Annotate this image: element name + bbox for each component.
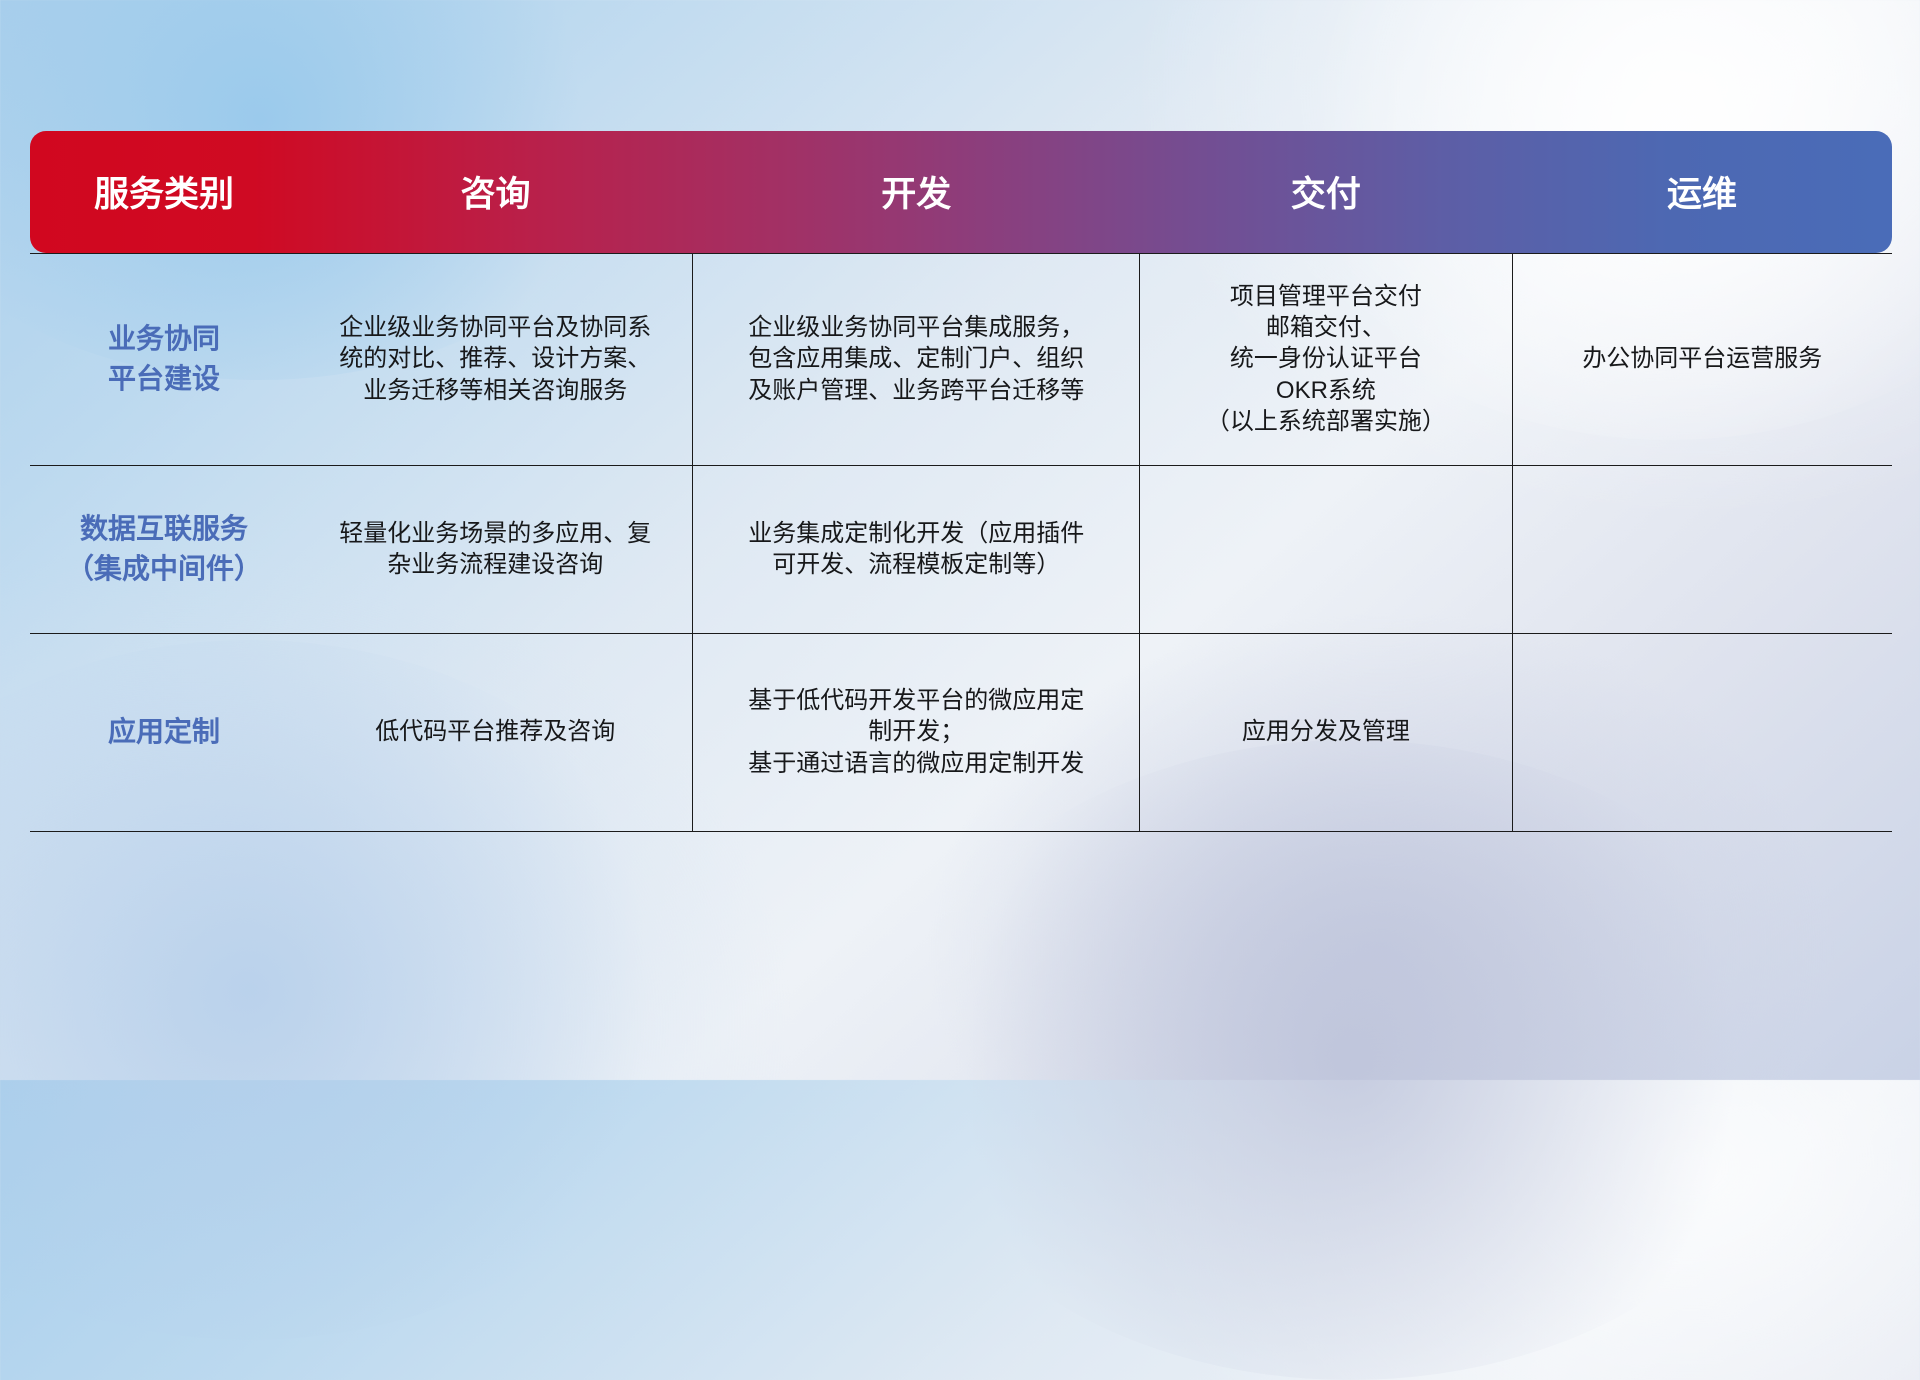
cell-development: 企业级业务协同平台集成服务， 包含应用集成、定制门户、组织 及账户管理、业务跨平… [693,253,1140,465]
cell-delivery [1140,465,1512,633]
table-header: 服务类别 咨询 开发 交付 运维 [30,131,1892,253]
table-row: 数据互联服务 （集成中间件） 轻量化业务场景的多应用、复 杂业务流程建设咨询 业… [30,465,1892,633]
cell-delivery: 应用分发及管理 [1140,633,1512,831]
cell-consulting: 轻量化业务场景的多应用、复 杂业务流程建设咨询 [298,465,693,633]
column-header-consulting-label: 咨询 [298,166,693,217]
cell-development: 基于低代码开发平台的微应用定 制开发； 基于通过语言的微应用定制开发 [693,633,1140,831]
cell-delivery: 项目管理平台交付 邮箱交付、 统一身份认证平台 OKR系统 （以上系统部署实施） [1140,253,1512,465]
column-header-delivery: 交付 [1140,131,1512,253]
column-header-development: 开发 [693,131,1140,253]
service-matrix-table: 服务类别 咨询 开发 交付 运维 业务协同 平台建设 企业级业务协同平台及协同 [30,131,1892,832]
service-matrix-table-wrapper: 服务类别 咨询 开发 交付 运维 业务协同 平台建设 企业级业务协同平台及协同 [30,131,1892,832]
background-blob-bottom-right [900,740,1800,1380]
cell-category: 应用定制 [30,633,298,831]
table-body: 业务协同 平台建设 企业级业务协同平台及协同系 统的对比、推荐、设计方案、 业务… [30,253,1892,831]
cell-consulting: 低代码平台推荐及咨询 [298,633,693,831]
cell-operations [1512,465,1892,633]
cell-category: 数据互联服务 （集成中间件） [30,465,298,633]
table-row: 应用定制 低代码平台推荐及咨询 基于低代码开发平台的微应用定 制开发； 基于通过… [30,633,1892,831]
column-header-consulting: 咨询 [298,131,693,253]
cell-consulting: 企业级业务协同平台及协同系 统的对比、推荐、设计方案、 业务迁移等相关咨询服务 [298,253,693,465]
column-header-development-label: 开发 [693,166,1140,217]
column-header-category: 服务类别 [30,131,298,253]
column-header-operations: 运维 [1512,131,1892,253]
table-header-row: 服务类别 咨询 开发 交付 运维 [30,131,1892,253]
cell-category: 业务协同 平台建设 [30,253,298,465]
cell-operations: 办公协同平台运营服务 [1512,253,1892,465]
cell-operations [1512,633,1892,831]
column-header-operations-label: 运维 [1512,166,1892,217]
column-header-category-label: 服务类别 [30,166,298,217]
column-header-delivery-label: 交付 [1140,166,1512,217]
table-row: 业务协同 平台建设 企业级业务协同平台及协同系 统的对比、推荐、设计方案、 业务… [30,253,1892,465]
cell-development: 业务集成定制化开发（应用插件 可开发、流程模板定制等） [693,465,1140,633]
